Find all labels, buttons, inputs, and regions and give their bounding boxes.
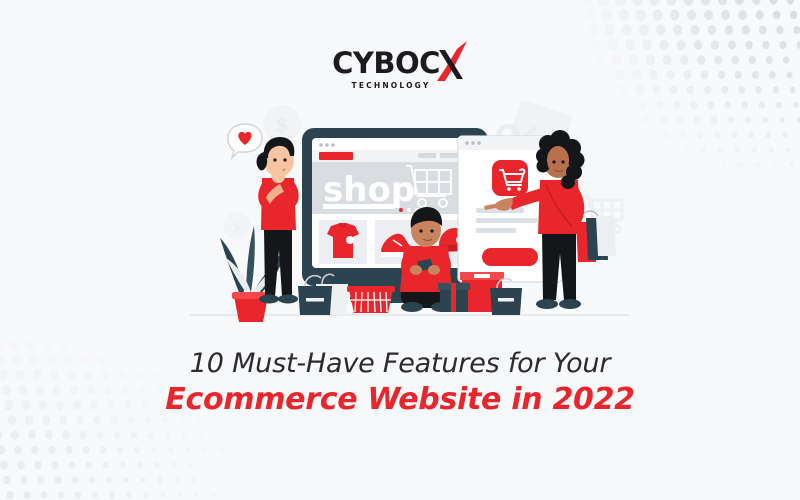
headline-block: 10 Must-Have Features for Your Ecommerce… — [0, 348, 800, 417]
logo-wordmark: CYBOC — [332, 49, 440, 78]
shoe — [559, 299, 581, 309]
ecommerce-illustration: $ $ $ $ — [190, 100, 630, 345]
eye — [273, 158, 276, 161]
text-line — [476, 228, 516, 233]
nav-accent-bar — [319, 152, 353, 160]
promo-banner: CYBOC TECHNOLOGY — [0, 0, 800, 500]
window-dot — [319, 143, 323, 147]
svg-text:$: $ — [232, 218, 242, 236]
svg-text:$: $ — [275, 113, 289, 137]
window-dot — [331, 143, 335, 147]
eye — [430, 229, 433, 232]
window-dot — [477, 141, 481, 145]
window-dot — [471, 141, 475, 145]
eye — [419, 229, 422, 232]
eye — [283, 158, 286, 161]
eye — [561, 160, 564, 163]
shoe — [401, 302, 423, 312]
carousel-dot-active — [399, 208, 403, 212]
gift-box-dark — [438, 283, 470, 312]
shoe — [259, 295, 279, 304]
eye — [552, 160, 555, 163]
carousel-dot — [407, 208, 411, 212]
logo-x-icon — [434, 46, 468, 80]
brand-logo: CYBOC TECHNOLOGY — [0, 48, 800, 90]
sweater — [538, 180, 580, 234]
headline-line-1: 10 Must-Have Features for Your — [0, 348, 800, 380]
window-dot — [465, 141, 469, 145]
window-dot — [325, 143, 329, 147]
pants — [542, 230, 576, 300]
cta-button — [482, 248, 538, 266]
logo-wordmark-row: CYBOC — [332, 48, 468, 78]
text-line — [476, 218, 538, 223]
heart-bubble-icon — [228, 124, 262, 158]
logo-tagline: TECHNOLOGY — [352, 81, 431, 90]
shoe — [278, 295, 298, 304]
shoe — [536, 299, 558, 309]
headline-line-2: Ecommerce Website in 2022 — [0, 382, 800, 417]
